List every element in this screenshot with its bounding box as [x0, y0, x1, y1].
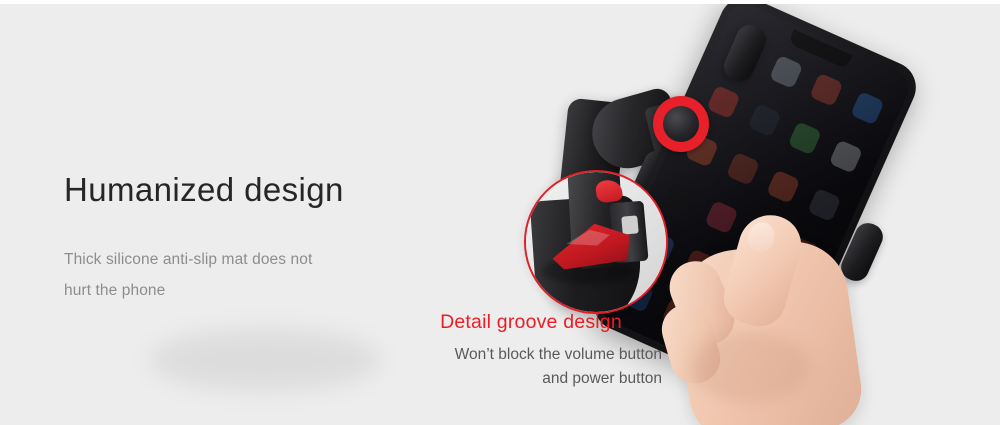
- app-icon: [809, 73, 843, 107]
- copy-block: Humanized design Thick silicone anti-sli…: [64, 172, 484, 306]
- headline: Humanized design: [64, 172, 484, 208]
- magnifier-contents: [526, 172, 666, 312]
- app-icon: [747, 103, 781, 137]
- app-icon: [850, 91, 884, 125]
- product-banner: Humanized design Thick silicone anti-sli…: [0, 0, 1000, 425]
- app-icon: [788, 121, 822, 155]
- hand: [660, 212, 890, 425]
- app-icon: [726, 152, 760, 186]
- magnified-clamp-notch: [621, 215, 639, 234]
- caption-block: Detail groove design Won’t block the vol…: [400, 310, 662, 391]
- app-icon: [769, 55, 803, 89]
- app-icon: [707, 85, 741, 119]
- magnifier-callout: [524, 170, 668, 314]
- top-white-strip: [0, 0, 1000, 4]
- ground-shadow: [150, 330, 380, 390]
- knuckle-shading: [690, 332, 810, 402]
- app-icon: [766, 170, 800, 204]
- caption-line-2: and power button: [400, 367, 662, 391]
- app-icon: [829, 139, 863, 173]
- caption-line-1: Won’t block the volume button: [400, 343, 662, 367]
- caption-lines: Won’t block the volume button and power …: [400, 334, 662, 391]
- caption-title: Detail groove design: [400, 310, 662, 334]
- subcopy: Thick silicone anti-slip mat does not hu…: [64, 208, 334, 306]
- joystick-red-ring: [653, 96, 709, 152]
- app-icon: [663, 182, 697, 216]
- joystick-cap: [663, 106, 699, 142]
